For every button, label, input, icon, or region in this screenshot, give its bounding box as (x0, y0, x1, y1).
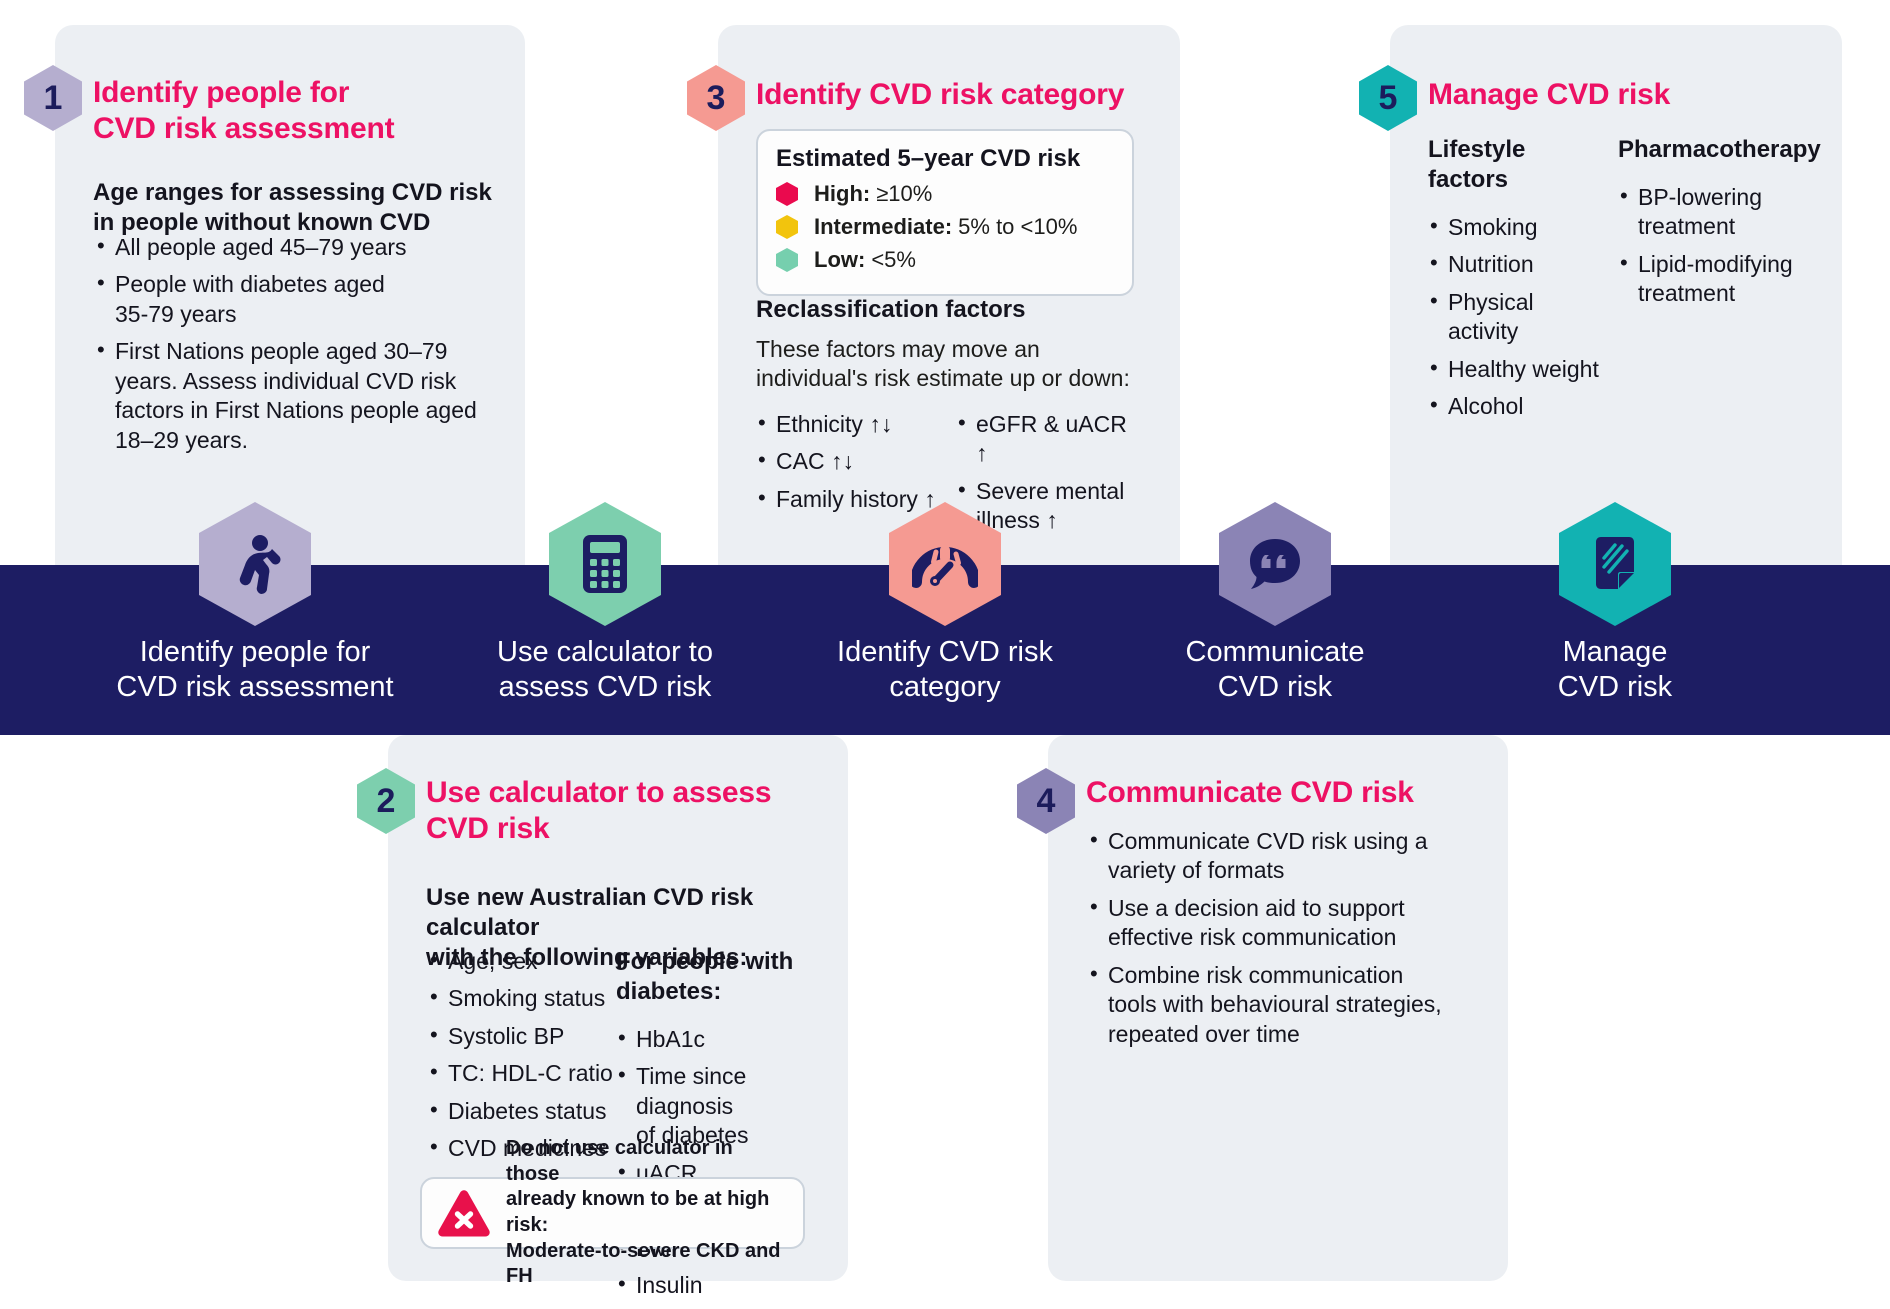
list-item: Combine risk communication tools with be… (1088, 961, 1478, 1049)
risk-legend-box: Estimated 5–year CVD risk High: ≥10% Int… (756, 129, 1134, 296)
list-item: Diabetes status (428, 1097, 616, 1126)
list-item: eGFR & uACR ↑ (956, 410, 1136, 469)
list-item: People with diabetes aged 35-79 years (95, 270, 495, 329)
band-label-3: Identify CVD risk category (795, 635, 1095, 706)
pharmacotherapy-heading: Pharmacotherapy (1618, 135, 1818, 165)
reclassification-intro: These factors may move an individual's r… (756, 335, 1146, 394)
risk-label: Intermediate: (814, 214, 952, 240)
step-number-badge-5: 5 (1359, 65, 1417, 131)
risk-label: High: (814, 181, 870, 207)
risk-value: <5% (871, 247, 916, 273)
reclassification-heading: Reclassification factors (756, 295, 1156, 325)
list-item: Age, sex (428, 947, 616, 976)
band-label-2: Use calculator to assess CVD risk (455, 635, 755, 706)
card-title-2: Use calculator to assess CVD risk (426, 775, 806, 847)
risk-label: Low: (814, 247, 865, 273)
list-item: Smoking status (428, 984, 616, 1013)
card-title-4: Communicate CVD risk (1086, 775, 1476, 811)
list-item: Alcohol (1428, 392, 1604, 421)
list-item: Nutrition (1428, 250, 1604, 279)
calculator-warning-box: Do not use calculator in those already k… (420, 1177, 805, 1249)
card-bullets-1: All people aged 45–79 years People with … (95, 233, 495, 463)
pharmacotherapy-list: BP-lowering treatment Lipid-modifying tr… (1618, 183, 1818, 309)
card-bullets-4: Communicate CVD risk using a variety of … (1088, 827, 1478, 1057)
list-item: Healthy weight (1428, 355, 1604, 384)
walking-person-icon (227, 533, 283, 595)
gauge-icon (912, 538, 978, 590)
risk-legend-row-low: Low: <5% (776, 247, 1114, 273)
warning-text: Do not use calculator in those already k… (506, 1136, 789, 1290)
list-item: Ethnicity ↑↓ (756, 410, 956, 439)
step-number-badge-4: 4 (1017, 768, 1075, 834)
card-subheading-1: Age ranges for assessing CVD risk in peo… (93, 178, 503, 238)
warning-triangle-x-icon (436, 1188, 492, 1238)
list-item: All people aged 45–79 years (95, 233, 495, 262)
risk-value: 5% to <10% (958, 214, 1077, 240)
card-step-4: 4 Communicate CVD risk Communicate CVD r… (1048, 735, 1508, 1281)
step-number-badge-2: 2 (357, 768, 415, 834)
speech-bubble-quote-icon (1246, 535, 1304, 593)
risk-legend-row-intermediate: Intermediate: 5% to <10% (776, 214, 1114, 240)
list-item: Use a decision aid to support effective … (1088, 894, 1478, 953)
list-item: Lipid-modifying treatment (1618, 250, 1818, 309)
list-item: BP-lowering treatment (1618, 183, 1818, 242)
step-number-badge-3: 3 (687, 65, 745, 131)
band-label-5: Manage CVD risk (1465, 635, 1765, 706)
risk-marker-intermediate-icon (776, 215, 798, 239)
risk-legend-heading: Estimated 5–year CVD risk (776, 145, 1114, 173)
list-item: CAC ↑↓ (756, 447, 956, 476)
infographic-root: 1 Identify people for CVD risk assessmen… (0, 0, 1890, 1307)
step-number-badge-1: 1 (24, 65, 82, 131)
diabetes-subheading: For people with diabetes: (616, 947, 816, 1007)
list-item: Smoking (1428, 213, 1604, 242)
list-item: Family history ↑ (756, 485, 956, 514)
card-title-3: Identify CVD risk category (756, 77, 1156, 113)
card-step-2: 2 Use calculator to assess CVD risk Use … (388, 735, 848, 1281)
card-title-1: Identify people for CVD risk assessment (93, 75, 493, 147)
risk-legend-row-high: High: ≥10% (776, 181, 1114, 207)
calculator-icon (581, 533, 629, 595)
document-note-icon (1590, 534, 1640, 594)
list-item: Systolic BP (428, 1022, 616, 1051)
lifestyle-heading: Lifestyle factors (1428, 135, 1604, 195)
band-label-1: Identify people for CVD risk assessment (105, 635, 405, 706)
lifestyle-list: Smoking Nutrition Physical activity Heal… (1428, 213, 1604, 422)
list-item: TC: HDL-C ratio (428, 1059, 616, 1088)
risk-marker-high-icon (776, 182, 798, 206)
list-item: Communicate CVD risk using a variety of … (1088, 827, 1478, 886)
band-label-4: Communicate CVD risk (1125, 635, 1425, 706)
list-item: HbA1c (616, 1025, 816, 1054)
card-title-5: Manage CVD risk (1428, 77, 1808, 113)
list-item: Physical activity (1428, 288, 1604, 347)
list-item: First Nations people aged 30–79 years. A… (95, 337, 495, 455)
risk-value: ≥10% (876, 181, 932, 207)
risk-marker-low-icon (776, 248, 798, 272)
